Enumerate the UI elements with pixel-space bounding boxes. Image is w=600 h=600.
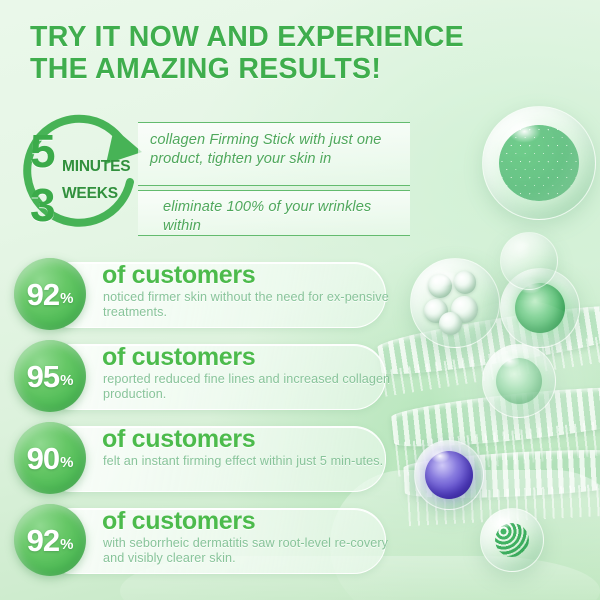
stat-value: 90 (27, 443, 59, 474)
green-core-sphere (500, 268, 580, 348)
timer-number-weeks: 3 (30, 182, 56, 228)
pearl-group (422, 270, 489, 337)
membrane-band-upper (376, 299, 600, 382)
stat-value: 92 (27, 279, 59, 310)
stat-percent-sign: % (60, 291, 73, 306)
membrane-tails-upper (381, 333, 600, 396)
upper-right-sphere (500, 232, 558, 290)
stat-row: 95 % of customers reported reduced fine … (14, 340, 386, 412)
stat-description: reported reduced fine lines and increase… (103, 372, 391, 403)
stat-row: 90 % of customers felt an instant firmin… (14, 422, 386, 494)
stat-percent-sign: % (60, 537, 73, 552)
timer-unit-minutes: MINUTES (62, 158, 130, 176)
stat-description: felt an instant firming effect within ju… (103, 454, 391, 469)
stat-percent-sign: % (60, 455, 73, 470)
stat-value: 92 (27, 525, 59, 556)
membrane-band-mid (390, 381, 600, 453)
stat-title: of customers (102, 427, 255, 452)
dotted-green-sphere (480, 508, 544, 572)
soft-glow-veil (430, 300, 600, 480)
timer-text-minutes: collagen Firming Stick with just one pro… (150, 131, 412, 168)
pearl (424, 299, 448, 323)
timer-unit-weeks: WEEKS (62, 185, 118, 203)
stat-title: of customers (102, 509, 255, 534)
pearl (439, 312, 462, 335)
stat-percent-sign: % (60, 373, 73, 388)
stat-badge: 95 % (14, 340, 86, 412)
stat-title: of customers (102, 345, 255, 370)
membrane-band-lower (403, 446, 600, 503)
mid-green-bubble (482, 344, 556, 418)
stat-badge: 90 % (14, 422, 86, 494)
honeycomb-core (499, 125, 580, 201)
headline-line-2: THE AMAZING RESULTS! (30, 54, 575, 86)
stat-description: with seborrheic dermatitis saw root-leve… (103, 536, 391, 567)
stat-row: 92 % of customers noticed firmer skin wi… (14, 258, 386, 330)
membrane-tails-mid (395, 417, 600, 476)
pearl (451, 296, 478, 323)
purple-sphere (414, 440, 484, 510)
headline: TRY IT NOW AND EXPERIENCE THE AMAZING RE… (30, 22, 575, 86)
mid-green-core (496, 358, 542, 404)
pearl (454, 271, 477, 294)
purple-core (425, 451, 474, 500)
headline-line-1: TRY IT NOW AND EXPERIENCE (30, 22, 575, 54)
advertisement-canvas: TRY IT NOW AND EXPERIENCE THE AMAZING RE… (0, 0, 600, 600)
membrane-tails-lower (407, 482, 600, 526)
honeycomb-sphere (482, 106, 596, 220)
timer-number-minutes: 5 (30, 128, 56, 174)
green-core (515, 283, 565, 333)
stat-row: 92 % of customers with seborrheic dermat… (14, 504, 386, 576)
dotted-green-core (495, 523, 530, 558)
pearl (428, 274, 452, 298)
stat-badge: 92 % (14, 504, 86, 576)
stat-title: of customers (102, 263, 255, 288)
stat-description: noticed firmer skin without the need for… (103, 290, 391, 321)
stat-badge: 92 % (14, 258, 86, 330)
timer-text-weeks: eliminate 100% of your wrinkles within (163, 198, 413, 235)
stat-value: 95 (27, 361, 59, 392)
pearl-cluster-sphere (410, 258, 500, 348)
